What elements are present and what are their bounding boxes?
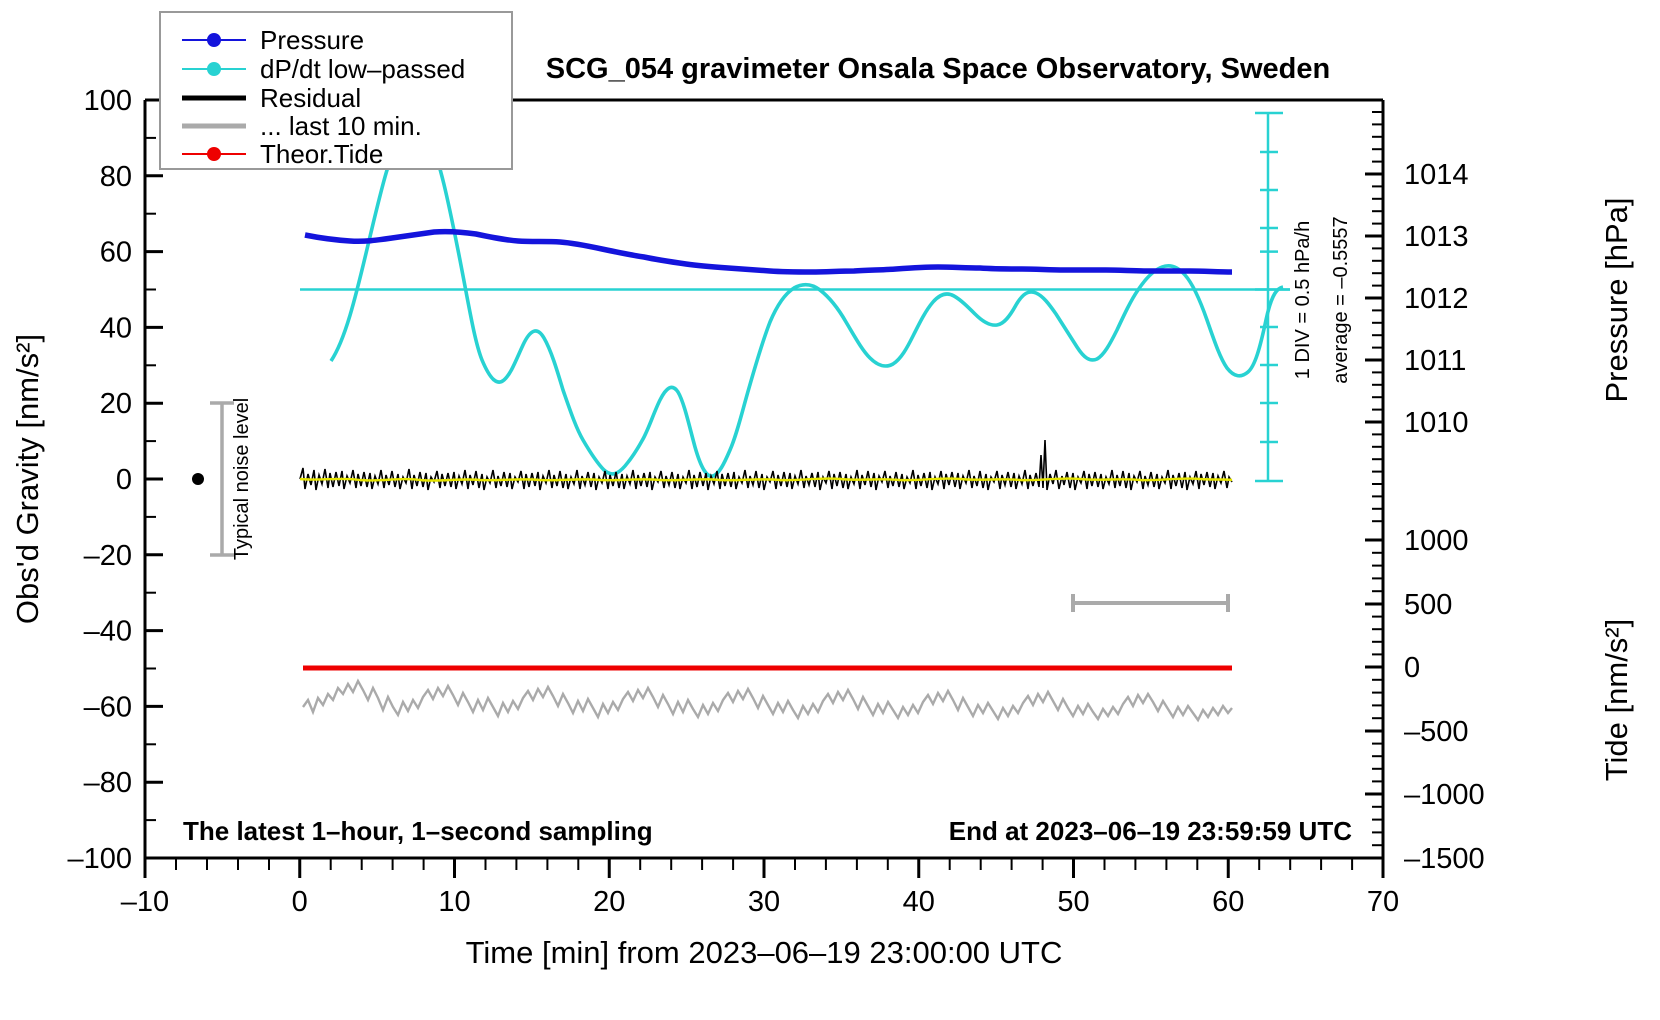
tide-tick-label: –1500 <box>1404 843 1485 875</box>
legend-label: Residual <box>260 83 361 113</box>
ytick-label: –40 <box>84 616 132 648</box>
xtick-label: 10 <box>438 886 470 918</box>
xtick-label: –10 <box>121 886 169 918</box>
theortide-marker-icon <box>207 147 221 161</box>
sampling-annotation: The latest 1–hour, 1–second sampling <box>183 816 653 846</box>
pressure-tick-label: 1010 <box>1404 407 1469 439</box>
dpdt-marker-icon <box>207 62 221 76</box>
ytick-label: 100 <box>84 85 132 117</box>
tide-axis-title: Tide [nm/s²] <box>1599 619 1634 782</box>
chart-page: 100 80 60 40 20 0 –20 –40 –60 –80 –100 <box>0 0 1660 1020</box>
pressure-tick-label: 1011 <box>1404 345 1466 377</box>
xtick-label: 30 <box>748 886 780 918</box>
ytick-label: 40 <box>100 312 132 344</box>
xtick-label: 60 <box>1212 886 1244 918</box>
ytick-label: –100 <box>67 843 132 875</box>
ytick-label: 0 <box>116 464 132 496</box>
xtick-label: 0 <box>292 886 308 918</box>
pressure-tick-label: 1012 <box>1404 283 1469 315</box>
ytick-label: –80 <box>84 767 132 799</box>
end-time-annotation: End at 2023–06–19 23:59:59 UTC <box>949 816 1352 846</box>
xtick-label: 40 <box>903 886 935 918</box>
div-scale-label: 1 DIV = 0.5 hPa/h <box>1292 221 1314 379</box>
ytick-label: 60 <box>100 237 132 269</box>
legend-label: ... last 10 min. <box>260 111 422 141</box>
ytick-label: 80 <box>100 161 132 193</box>
ytick-label: 20 <box>100 388 132 420</box>
tide-tick-label: –1000 <box>1404 779 1485 811</box>
pressure-tick-label: 1014 <box>1404 159 1469 191</box>
tide-tick-label: 1000 <box>1404 525 1469 557</box>
ytick-label: –60 <box>84 691 132 723</box>
tide-tick-label: 500 <box>1404 589 1452 621</box>
xtick-label: 70 <box>1367 886 1399 918</box>
legend-label: Theor.Tide <box>260 139 383 169</box>
average-label: average = –0.5557 <box>1330 216 1352 383</box>
legend-label: dP/dt low–passed <box>260 54 465 84</box>
legend-label: Pressure <box>260 25 364 55</box>
typical-noise-level-label: Typical noise level <box>231 398 253 560</box>
tide-tick-label: –500 <box>1404 716 1469 748</box>
pressure-tick-label: 1013 <box>1404 221 1469 253</box>
pressure-marker-icon <box>207 33 221 47</box>
ytick-label: –20 <box>84 540 132 572</box>
chart-title: SCG_054 gravimeter Onsala Space Observat… <box>546 53 1330 85</box>
y-axis-title: Obs'd Gravity [nm/s²] <box>10 334 45 624</box>
gravimeter-chart: 100 80 60 40 20 0 –20 –40 –60 –80 –100 <box>0 0 1660 1020</box>
legend[interactable]: Pressure dP/dt low–passed Residual ... l… <box>160 12 512 169</box>
tide-tick-label: 0 <box>1404 652 1420 684</box>
xtick-label: 50 <box>1057 886 1089 918</box>
pressure-axis-title: Pressure [hPa] <box>1599 197 1634 402</box>
xtick-label: 20 <box>593 886 625 918</box>
x-axis-title: Time [min] from 2023–06–19 23:00:00 UTC <box>466 935 1063 970</box>
